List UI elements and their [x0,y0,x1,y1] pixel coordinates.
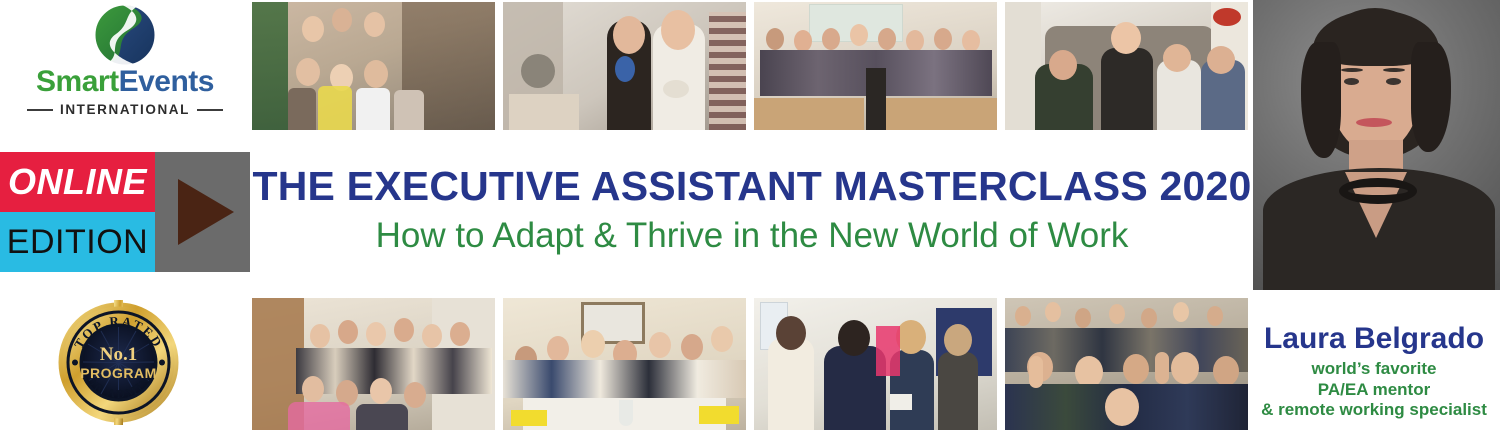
brand-wordmark: SmartEvents [36,67,214,97]
photo-group-cheering-stairs [252,2,495,130]
event-banner: SmartEvents INTERNATIONAL ONLINE EDITION… [0,0,1500,430]
speaker-info: Laura Belgrado world’s favorite PA/EA me… [1248,322,1500,421]
online-label-block: ONLINE [0,152,155,212]
photo-audience-hands-raised [1005,298,1248,430]
online-edition-badge: ONLINE EDITION [0,152,155,272]
page-title: THE EXECUTIVE ASSISTANT MASTERCLASS 2020 [252,165,1252,208]
seal-center-line2: PROGRAM [80,365,157,381]
brand-logo[interactable]: SmartEvents INTERNATIONAL [0,0,250,130]
brand-tagline: INTERNATIONAL [60,102,190,117]
top-rated-seal: TOP RATED FOR ADMINS No.1 PROGRAM [56,300,181,425]
speaker-role-line3: & remote working specialist [1248,400,1500,421]
brand-word-events: Events [119,65,214,98]
photo-lounge-sofa-group [1005,2,1248,130]
photo-two-women-catering [503,2,746,130]
seal-center-line1: No.1 [100,344,137,365]
headline-area: THE EXECUTIVE ASSISTANT MASTERCLASS 2020… [252,150,1252,280]
speaker-role-line1: world’s favorite [1248,359,1500,380]
speaker-portrait [1253,0,1500,290]
play-triangle-icon [178,179,234,245]
edition-label: EDITION [7,225,148,259]
speaker-role-line2: PA/EA mentor [1248,380,1500,401]
page-subtitle: How to Adapt & Thrive in the New World o… [252,217,1252,256]
photo-large-group-pose [252,298,495,430]
photo-table-workshop-notes [503,298,746,430]
smartevents-swirl-logo-icon [94,4,156,66]
photo-flipchart-exercise [754,298,997,430]
brand-tagline-row: INTERNATIONAL [27,102,223,117]
speaker-role: world’s favorite PA/EA mentor & remote w… [1248,359,1500,421]
speaker-name: Laura Belgrado [1248,322,1500,355]
online-label: ONLINE [8,164,147,200]
tagline-rule-left [27,109,53,111]
edition-label-block: EDITION [0,212,155,272]
play-button[interactable] [155,152,250,272]
photo-workshop-hands-up [754,2,997,130]
tagline-rule-right [197,109,223,111]
brand-word-smart: Smart [36,65,119,98]
